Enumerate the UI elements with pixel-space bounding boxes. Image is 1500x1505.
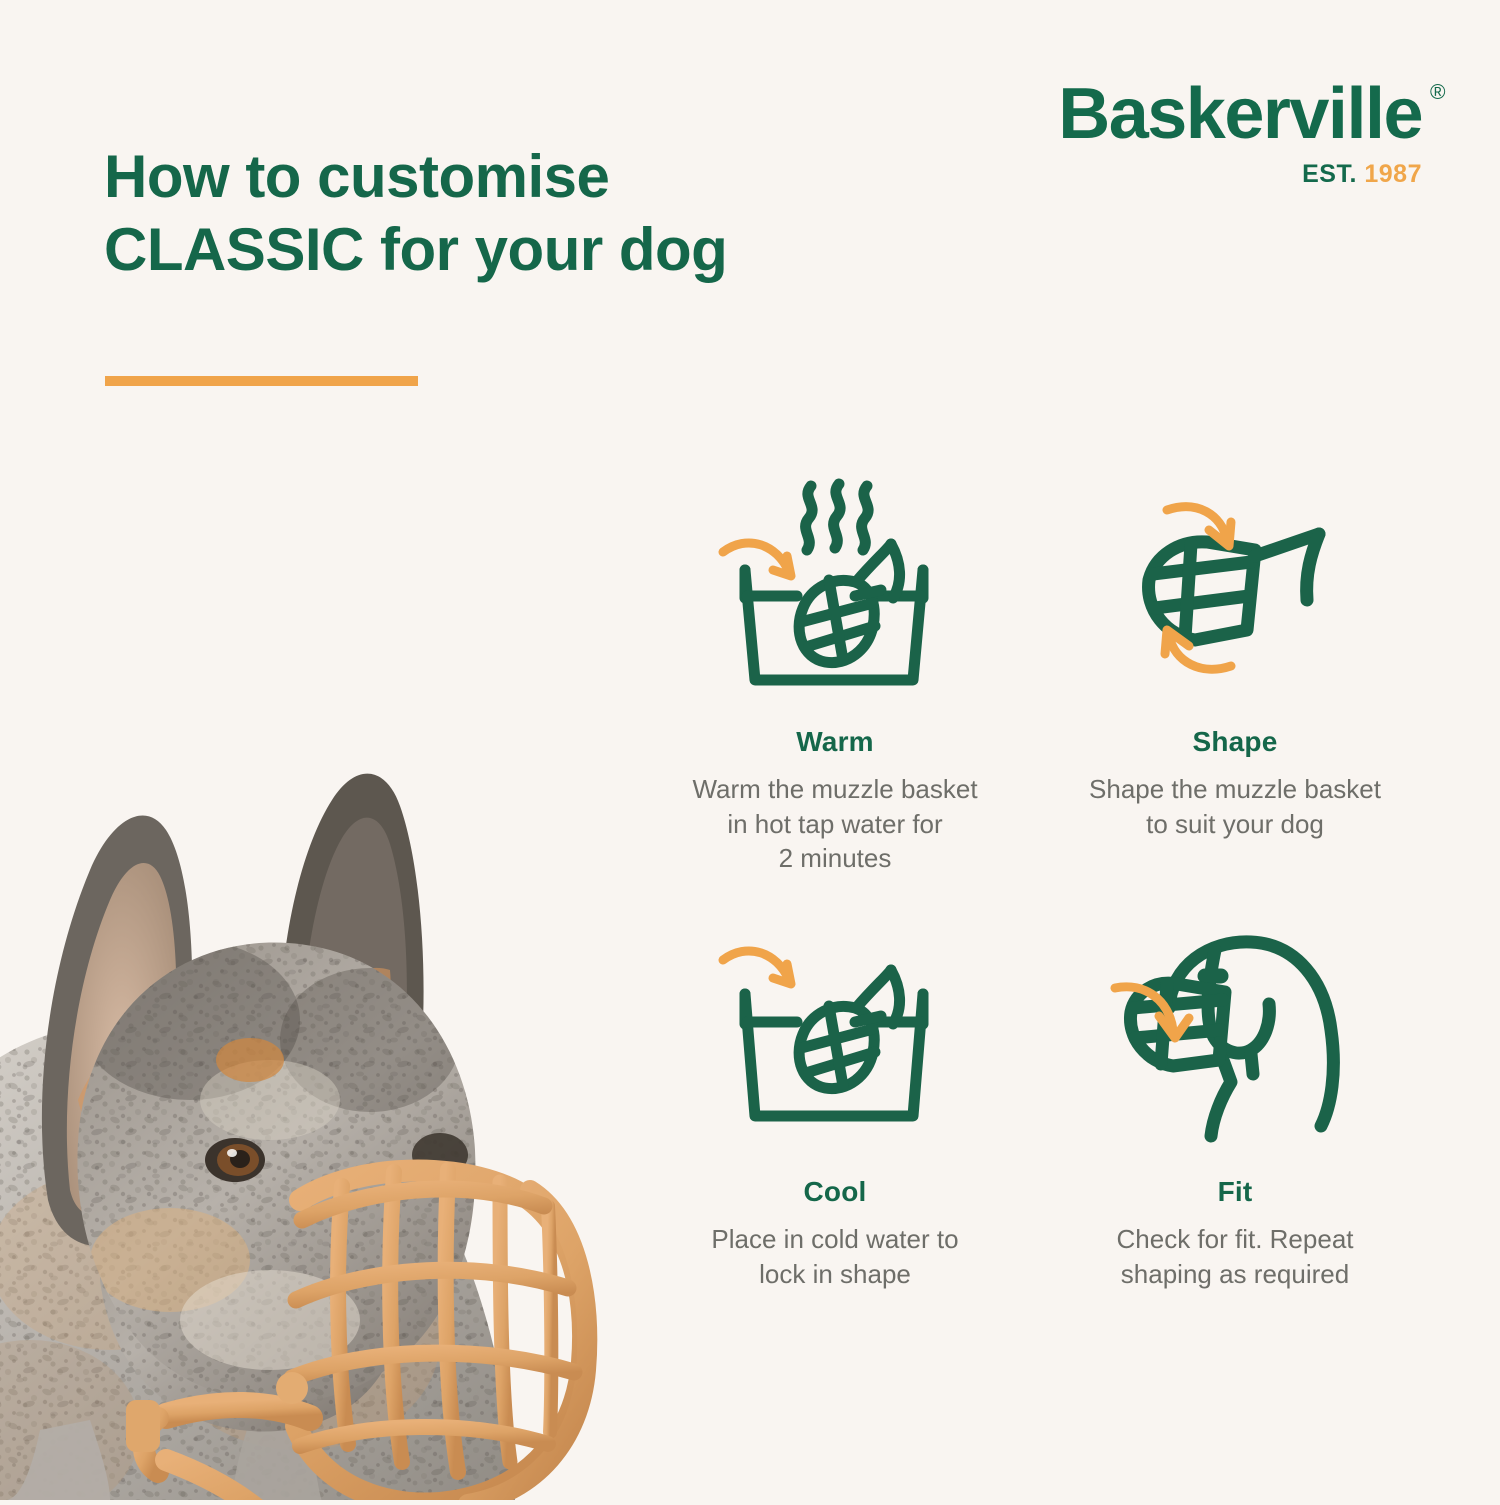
established-label: EST.	[1302, 160, 1357, 188]
page-title-line-2: CLASSIC for your dog	[104, 213, 727, 286]
step-description: Shape the muzzle basket to suit your dog	[1089, 772, 1381, 841]
brand-wordmark: Baskerville ®	[1058, 78, 1422, 150]
step-title: Cool	[803, 1176, 866, 1208]
step-description: Warm the muzzle basket in hot tap water …	[692, 772, 977, 876]
step-description: Place in cold water to lock in shape	[711, 1222, 958, 1291]
step-fit: Fit Check for fit. Repeat shaping as req…	[1040, 910, 1430, 1330]
registered-trademark-icon: ®	[1430, 82, 1444, 103]
dog-head-muzzle-fit-icon	[1105, 910, 1365, 1170]
page-title-line-1: How to customise	[104, 140, 727, 213]
muzzle-squeeze-arrows-icon	[1105, 460, 1365, 720]
basin-cold-muzzle-icon	[705, 910, 965, 1170]
brand-wordmark-text: Baskerville	[1058, 74, 1422, 154]
title-accent-rule	[105, 376, 418, 386]
step-title: Warm	[796, 726, 874, 758]
brand-logo: Baskerville ® EST. 1987	[1058, 78, 1422, 187]
steps-grid: Warm Warm the muzzle basket in hot tap w…	[640, 460, 1430, 1330]
step-description: Check for fit. Repeat shaping as require…	[1117, 1222, 1354, 1291]
step-shape: Shape Shape the muzzle basket to suit yo…	[1040, 460, 1430, 880]
step-title: Shape	[1192, 726, 1277, 758]
established-year: 1987	[1364, 160, 1422, 188]
step-cool: Cool Place in cold water to lock in shap…	[640, 910, 1030, 1330]
hero-dog-photo	[0, 500, 650, 1500]
step-warm: Warm Warm the muzzle basket in hot tap w…	[640, 460, 1030, 880]
step-title: Fit	[1218, 1176, 1253, 1208]
page-title: How to customise CLASSIC for your dog	[104, 140, 727, 286]
infographic-page: Baskerville ® EST. 1987 How to customise…	[0, 0, 1500, 1500]
basin-steam-muzzle-icon	[705, 460, 965, 720]
brand-established: EST. 1987	[1058, 162, 1422, 187]
